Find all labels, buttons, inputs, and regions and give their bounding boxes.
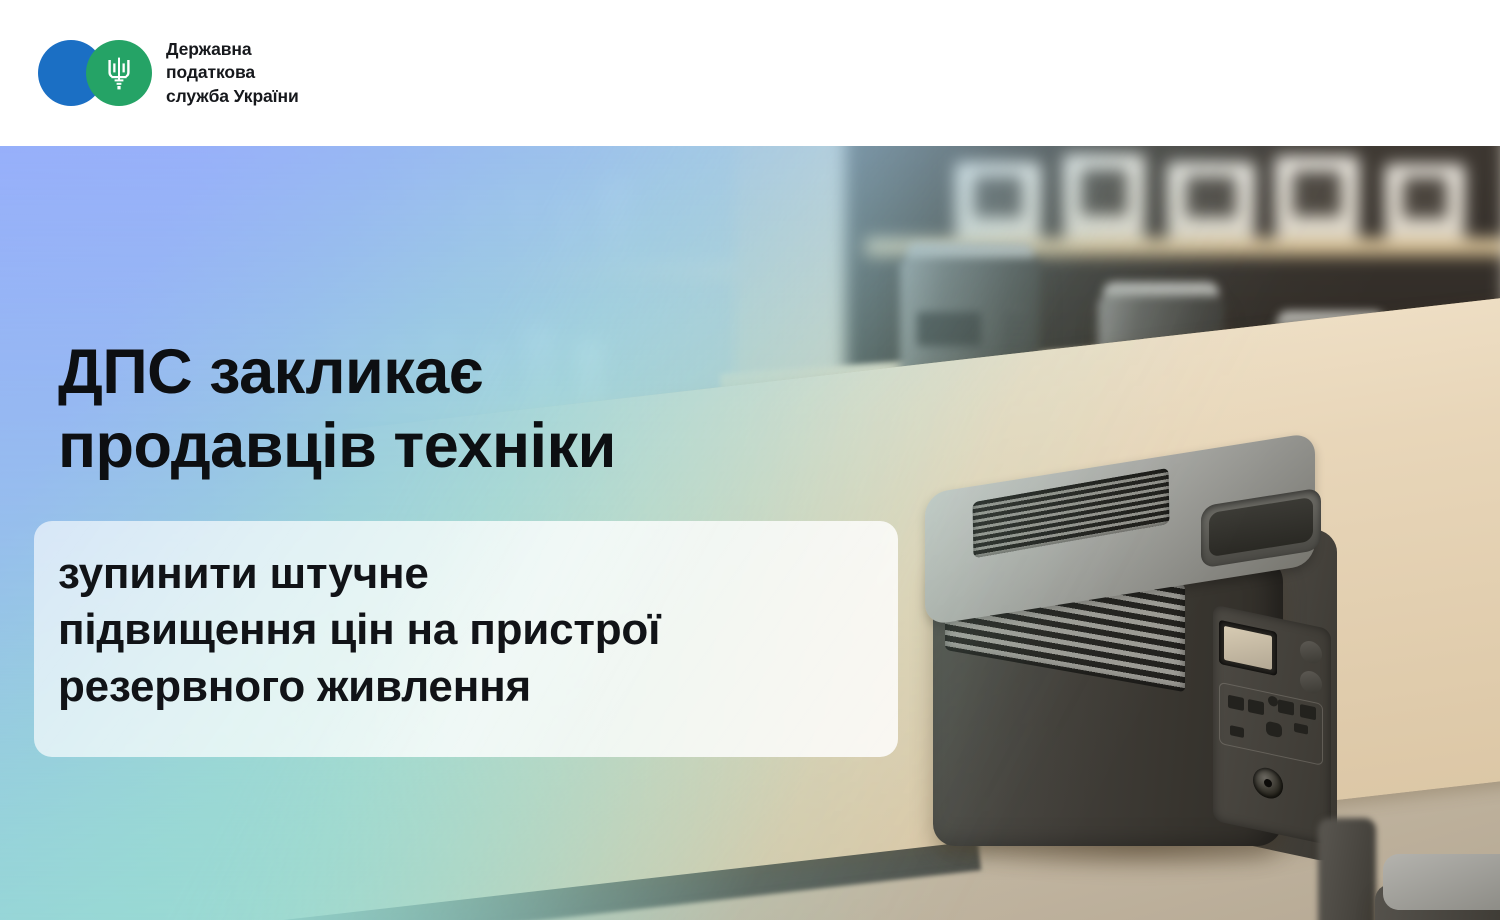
promo-banner: Державна податкова служба України [0, 0, 1500, 920]
logo-marks [38, 40, 152, 106]
page-title: ДПС закликає продавців техніки [58, 335, 616, 484]
subtitle-text: зупинити штучне підвищення цін на пристр… [58, 546, 660, 715]
ukrainian-trident-icon [104, 55, 134, 91]
green-circle-icon [86, 40, 152, 106]
organization-logo: Державна податкова служба України [38, 38, 299, 108]
organization-name: Державна податкова служба України [166, 38, 299, 108]
header-bar: Державна податкова служба України [0, 0, 1500, 146]
